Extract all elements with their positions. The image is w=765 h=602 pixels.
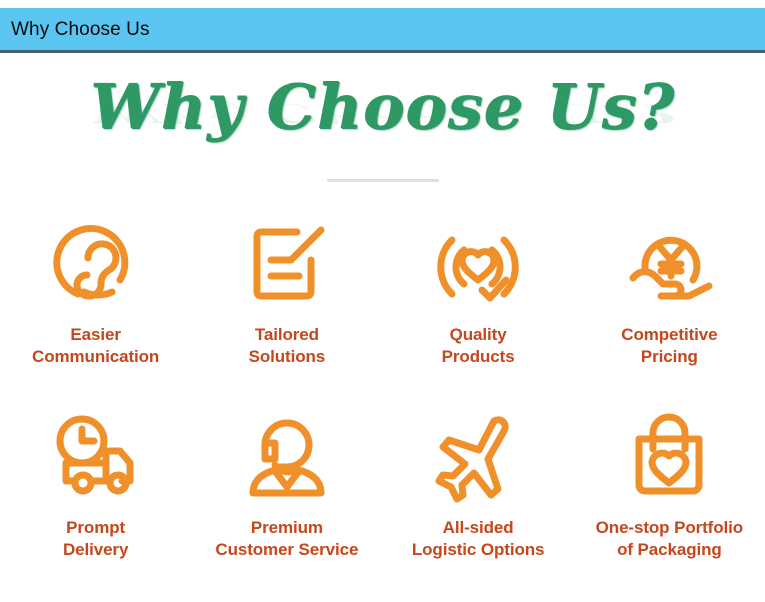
page-root: Why Choose Us Why Choose Us? Why Choose … [0,0,765,599]
ear-listening-icon [46,212,146,312]
feature-cell-prompt-delivery[interactable]: Prompt Delivery [0,405,191,598]
feature-label: Premium Customer Service [215,517,358,561]
hero-title: Why Choose Us? [90,59,675,155]
airplane-icon [428,405,528,505]
feature-label: One-stop Portfolio of Packaging [596,517,743,561]
features-grid: Easier Communication Tailored Solutions [0,212,765,598]
feature-label: Prompt Delivery [63,517,128,561]
feature-cell-premium-customer-service[interactable]: Premium Customer Service [191,405,382,598]
hand-yen-coin-icon [619,212,719,312]
feature-label: Easier Communication [32,324,159,368]
feature-cell-packaging-portfolio[interactable]: One-stop Portfolio of Packaging [574,405,765,598]
feature-label: Tailored Solutions [249,324,326,368]
hero-title-block: Why Choose Us? Why Choose Us? [0,59,765,167]
document-pen-icon [237,212,337,312]
feature-label: All-sided Logistic Options [412,517,545,561]
headset-agent-icon [237,405,337,505]
feature-label: Quality Products [442,324,515,368]
page-title: Why Choose Us [11,20,150,39]
feature-label: Competitive Pricing [621,324,717,368]
feature-cell-logistic-options[interactable]: All-sided Logistic Options [383,405,574,598]
feature-cell-easier-communication[interactable]: Easier Communication [0,212,191,405]
heart-signal-check-icon [428,212,528,312]
app-header-bar: Why Choose Us [0,8,765,53]
top-gap [0,0,765,8]
truck-clock-icon [46,405,146,505]
feature-cell-tailored-solutions[interactable]: Tailored Solutions [191,212,382,405]
feature-cell-competitive-pricing[interactable]: Competitive Pricing [574,212,765,405]
main-content: Why Choose Us? Why Choose Us? Easier Com… [0,59,765,602]
hero-divider [327,179,439,182]
shopping-bag-heart-icon [619,405,719,505]
feature-cell-quality-products[interactable]: Quality Products [383,212,574,405]
